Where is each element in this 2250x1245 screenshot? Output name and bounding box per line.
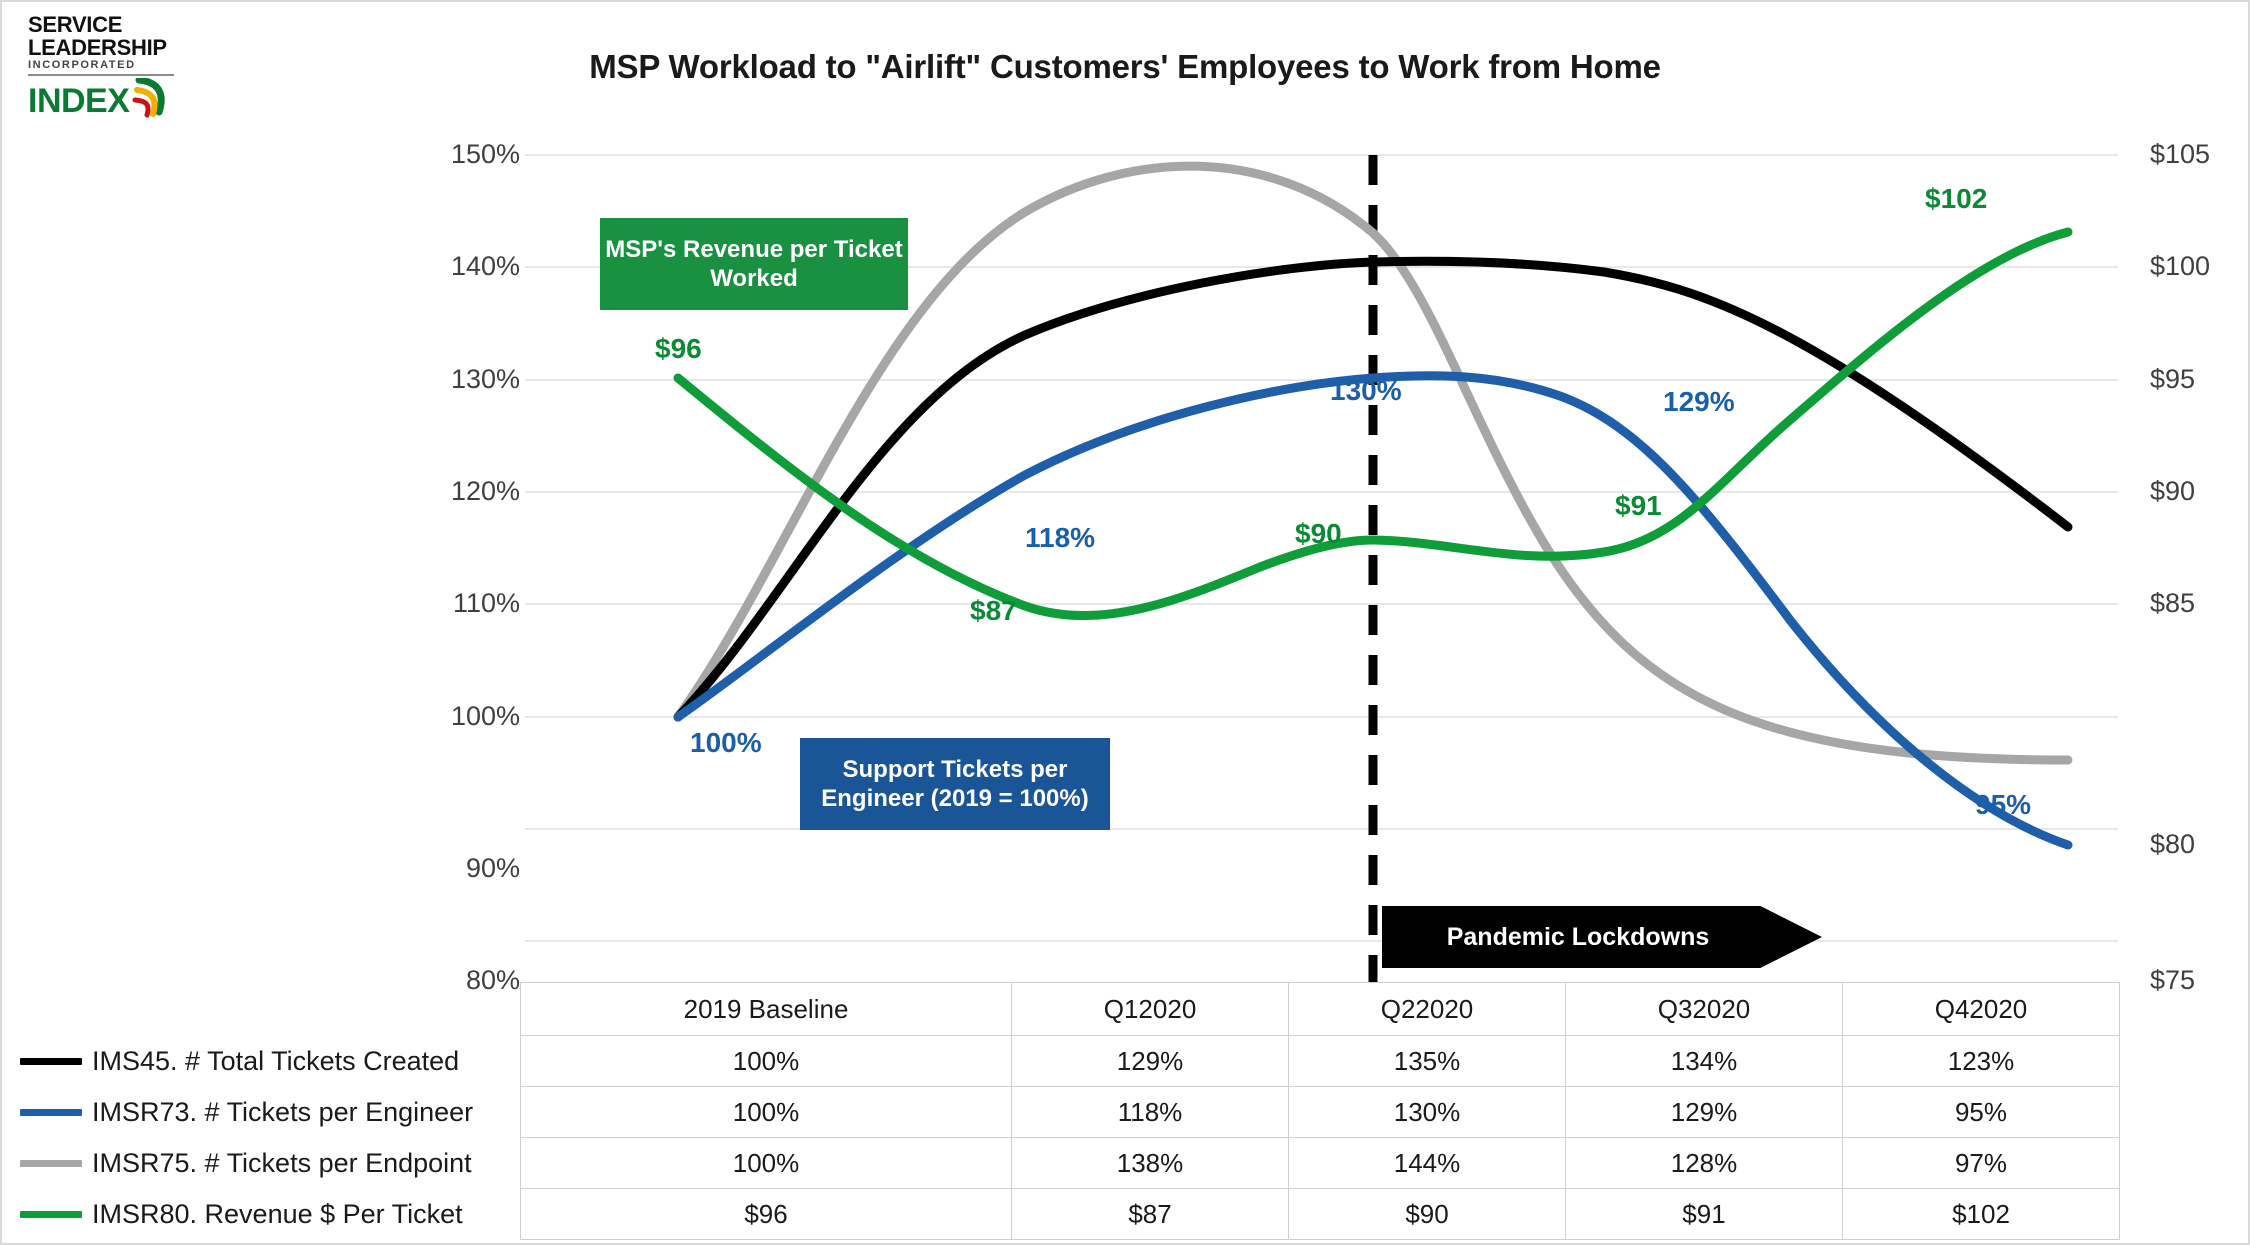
- table-cell: 129%: [1566, 1087, 1843, 1138]
- y-axis-left-tick: 140%: [370, 251, 520, 282]
- table-column-header: Q32020: [1566, 983, 1843, 1036]
- table-row: IMSR73. # Tickets per Engineer 100% 118%…: [20, 1087, 2120, 1138]
- legend-label: IMSR80. Revenue $ Per Ticket: [92, 1199, 463, 1230]
- data-label-engineer-q1: 118%: [1025, 522, 1095, 554]
- y-axis-left-tick: 110%: [370, 588, 520, 619]
- legend-label: IMSR73. # Tickets per Engineer: [92, 1097, 473, 1128]
- table-row: IMS45. # Total Tickets Created 100% 129%…: [20, 1036, 2120, 1087]
- y-axis-left-tick: 150%: [370, 139, 520, 170]
- data-label-revenue-2019: $96: [655, 333, 702, 365]
- y-axis-right-tick: $100: [2150, 251, 2250, 282]
- table-corner-cell: [20, 983, 521, 1036]
- legend-label: IMS45. # Total Tickets Created: [92, 1046, 459, 1077]
- table-cell: 144%: [1289, 1138, 1566, 1189]
- y-axis-right-tick: $90: [2150, 476, 2250, 507]
- y-axis-right-tick: $105: [2150, 139, 2250, 170]
- table-cell: 100%: [521, 1138, 1012, 1189]
- legend-swatch-blue: [20, 1109, 82, 1116]
- table-cell: 129%: [1012, 1036, 1289, 1087]
- y-axis-left-tick: 130%: [370, 364, 520, 395]
- legend-row-revenue-per-ticket: IMSR80. Revenue $ Per Ticket: [20, 1189, 521, 1240]
- table-cell: 118%: [1012, 1087, 1289, 1138]
- table-row: IMSR75. # Tickets per Endpoint 100% 138%…: [20, 1138, 2120, 1189]
- legend-label: IMSR75. # Tickets per Endpoint: [92, 1148, 472, 1179]
- legend-row-total-tickets: IMS45. # Total Tickets Created: [20, 1036, 521, 1087]
- table-cell: 128%: [1566, 1138, 1843, 1189]
- table-cell: $87: [1012, 1189, 1289, 1240]
- data-label-engineer-q4: 95%: [1975, 789, 2031, 821]
- callout-revenue-per-ticket: MSP's Revenue per Ticket Worked: [600, 218, 908, 310]
- table-cell: 95%: [1842, 1087, 2119, 1138]
- callout-blue-text: Support Tickets per Engineer (2019 = 100…: [800, 755, 1110, 814]
- callout-green-text: MSP's Revenue per Ticket Worked: [600, 235, 908, 294]
- table-cell: $102: [1842, 1189, 2119, 1240]
- table-cell: 138%: [1012, 1138, 1289, 1189]
- pandemic-lockdowns-banner: Pandemic Lockdowns: [1382, 906, 1822, 968]
- table-cell: 100%: [521, 1087, 1012, 1138]
- legend-swatch-green: [20, 1211, 82, 1218]
- chart-plot: [0, 0, 2250, 1000]
- pandemic-banner-text: Pandemic Lockdowns: [1382, 906, 1822, 968]
- chart-data-table: 2019 Baseline Q12020 Q22020 Q32020 Q4202…: [20, 982, 2120, 1240]
- data-label-revenue-q4: $102: [1925, 183, 1987, 215]
- legend-swatch-black: [20, 1058, 82, 1065]
- y-axis-right-tick: $85: [2150, 588, 2250, 619]
- data-label-revenue-q2: $90: [1295, 518, 1342, 550]
- data-label-revenue-q1: $87: [970, 595, 1017, 627]
- table-cell: 123%: [1842, 1036, 2119, 1087]
- table-header-row: 2019 Baseline Q12020 Q22020 Q32020 Q4202…: [20, 983, 2120, 1036]
- legend-swatch-grey: [20, 1160, 82, 1167]
- y-axis-right-tick: $75: [2150, 965, 2250, 996]
- table-column-header: Q22020: [1289, 983, 1566, 1036]
- table-cell: $90: [1289, 1189, 1566, 1240]
- table-cell: $91: [1566, 1189, 1843, 1240]
- data-label-engineer-q2: 130%: [1330, 375, 1402, 407]
- table-row: IMSR80. Revenue $ Per Ticket $96 $87 $90…: [20, 1189, 2120, 1240]
- table-cell: 100%: [521, 1036, 1012, 1087]
- y-axis-left-tick: 100%: [370, 701, 520, 732]
- table-cell: 135%: [1289, 1036, 1566, 1087]
- table-cell: 134%: [1566, 1036, 1843, 1087]
- y-axis-right-tick: $80: [2150, 829, 2250, 860]
- data-label-engineer-q3: 129%: [1663, 386, 1735, 418]
- data-label-revenue-q3: $91: [1615, 490, 1662, 522]
- table-cell: $96: [521, 1189, 1012, 1240]
- y-axis-left-tick: 120%: [370, 476, 520, 507]
- data-label-engineer-2019: 100%: [690, 727, 762, 759]
- table-column-header: Q12020: [1012, 983, 1289, 1036]
- legend-row-tickets-per-endpoint: IMSR75. # Tickets per Endpoint: [20, 1138, 521, 1189]
- table-column-header: 2019 Baseline: [521, 983, 1012, 1036]
- table-cell: 130%: [1289, 1087, 1566, 1138]
- y-axis-right-tick: $95: [2150, 364, 2250, 395]
- table-column-header: Q42020: [1842, 983, 2119, 1036]
- callout-support-tickets-per-engineer: Support Tickets per Engineer (2019 = 100…: [800, 738, 1110, 830]
- legend-row-tickets-per-engineer: IMSR73. # Tickets per Engineer: [20, 1087, 521, 1138]
- y-axis-left-tick: 90%: [370, 853, 520, 884]
- table-cell: 97%: [1842, 1138, 2119, 1189]
